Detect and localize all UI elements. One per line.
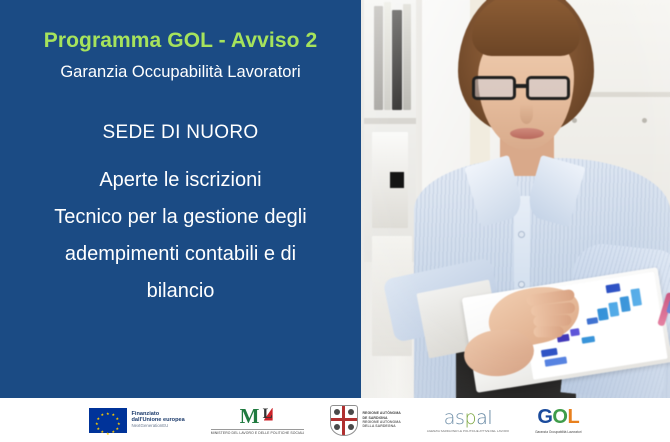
- moor-head: [334, 424, 340, 430]
- chart-bar: [586, 317, 598, 325]
- aspal-wordmark: aspal: [444, 408, 493, 428]
- shirt-button: [519, 232, 524, 237]
- finger: [534, 326, 564, 337]
- footer-logo-bar: ★ ★ ★ ★ ★ ★ ★ ★ ★ ★ ★ ★ Finanziato dall'…: [0, 398, 670, 442]
- announcement-text: Aperte le iscrizioni Tecnico per la gest…: [18, 162, 343, 310]
- eu-star: ★: [106, 432, 109, 435]
- eyeglass-lens-right: [526, 76, 570, 100]
- eu-funding-logo: ★ ★ ★ ★ ★ ★ ★ ★ ★ ★ ★ ★ Finanziato dall'…: [89, 408, 185, 433]
- chart-bar: [541, 348, 558, 357]
- eu-text-line-3: NextGenerationEU: [132, 424, 185, 429]
- poster: Programma GOL - Avviso 2 Garanzia Occupa…: [0, 0, 670, 442]
- book: [403, 4, 411, 110]
- eu-star: ★: [97, 417, 100, 420]
- moor-head: [334, 409, 340, 415]
- book: [392, 10, 402, 110]
- gol-letter-o: O: [552, 406, 567, 428]
- ml-monogram-icon: M L: [238, 406, 278, 428]
- gol-logo: GOL Garanzia Occupabilità Lavoratori: [535, 407, 581, 434]
- page-title: Programma GOL - Avviso 2: [0, 28, 361, 54]
- book: [384, 2, 391, 110]
- eu-star: ★: [97, 427, 100, 430]
- ml-caption: MINISTERO DEL LAVORO E DELLE POLITICHE S…: [211, 429, 305, 435]
- chart-bar: [630, 288, 642, 306]
- title-block: Programma GOL - Avviso 2 Garanzia Occupa…: [0, 28, 361, 83]
- eu-logo-text: Finanziato dall'Unione europea NextGener…: [132, 411, 185, 429]
- aspal-caption: AGENZIA SARDA PER LE POLITICHE ATTIVE DE…: [427, 429, 509, 433]
- page-subtitle: Garanzia Occupabilità Lavoratori: [0, 61, 361, 83]
- binder: [372, 132, 408, 228]
- eu-flag-icon: ★ ★ ★ ★ ★ ★ ★ ★ ★ ★ ★ ★: [89, 408, 127, 433]
- chart-bar: [581, 336, 595, 344]
- book: [374, 6, 383, 110]
- chart-bar: [620, 296, 631, 312]
- eu-star: ★: [95, 422, 98, 425]
- moor-head: [348, 424, 354, 430]
- person-hair-front: [472, 0, 580, 56]
- cabinet-knob-icon: [642, 118, 647, 123]
- gol-wordmark: GOL: [537, 407, 579, 428]
- eu-star: ★: [117, 422, 120, 425]
- regione-sardegna-logo: REGIONE AUTÒNOMA DE SARDIGNA REGIONE AUT…: [330, 405, 400, 436]
- gol-caption: Garanzia Occupabilità Lavoratori: [535, 430, 581, 434]
- announcement-line-3: adempimenti contabili e di: [18, 236, 343, 273]
- eyeglass-lens-left: [472, 76, 516, 100]
- office-label: SEDE DI NUORO: [0, 120, 361, 146]
- moor-head: [348, 409, 354, 415]
- eu-star: ★: [112, 413, 115, 416]
- ministero-lavoro-logo: M L MINISTERO DEL LAVORO E DELLE POLITIC…: [211, 406, 305, 435]
- chart-bar: [608, 302, 619, 317]
- four-moors-shield-icon: [330, 405, 358, 436]
- aspal-letter-a: a: [444, 407, 455, 429]
- chart-bar: [544, 356, 567, 366]
- eu-star: ★: [112, 430, 115, 433]
- eyeglasses-icon: [470, 76, 582, 102]
- eu-star: ★: [101, 413, 104, 416]
- shield-cross-horizontal: [331, 418, 357, 421]
- chart-bar: [597, 307, 609, 320]
- chart-bar: [570, 328, 580, 336]
- eu-star: ★: [116, 427, 119, 430]
- person-nose: [520, 104, 533, 124]
- ml-letter-l: L: [263, 407, 273, 422]
- eu-star: ★: [106, 412, 109, 415]
- eu-star: ★: [101, 430, 104, 433]
- aspal-logo: aspal AGENZIA SARDA PER LE POLITICHE ATT…: [427, 408, 509, 433]
- ml-letter-m: M: [240, 406, 260, 427]
- aspal-letters-al: al: [476, 407, 492, 429]
- ras-text-line-4: DELLA SARDEGNA: [362, 424, 400, 428]
- shirt-button: [519, 282, 524, 287]
- aspal-letter-p: p: [464, 407, 476, 429]
- announcement-line-1: Aperte le iscrizioni: [18, 162, 343, 199]
- eu-star: ★: [116, 417, 119, 420]
- chart-bar: [606, 283, 621, 293]
- bookshelf: [364, 0, 416, 262]
- gol-letter-g: G: [537, 406, 552, 428]
- person-lips: [510, 128, 544, 139]
- finger: [533, 315, 571, 327]
- regione-sardegna-text: REGIONE AUTÒNOMA DE SARDIGNA REGIONE AUT…: [362, 411, 400, 429]
- photo-woman-with-report: [360, 0, 670, 398]
- announcement-line-2: Tecnico per la gestione degli: [18, 199, 343, 236]
- announcement-line-4: bilancio: [18, 273, 343, 310]
- gol-letter-l: L: [567, 406, 579, 428]
- blue-text-panel: Programma GOL - Avviso 2 Garanzia Occupa…: [0, 0, 361, 398]
